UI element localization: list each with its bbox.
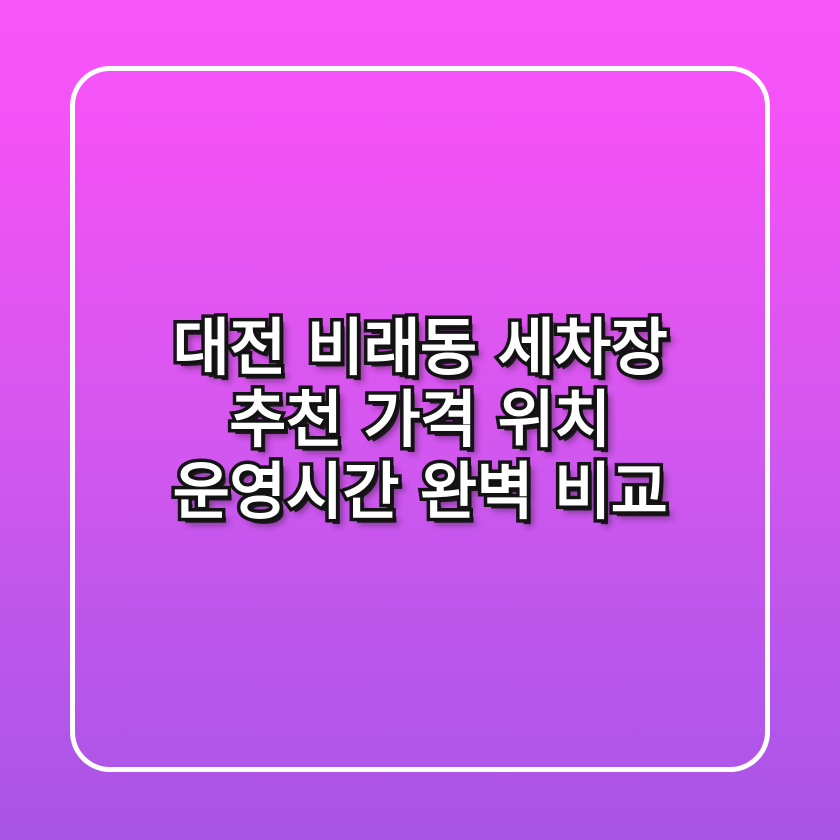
title-line-2: 추천 가격 위치: [92, 384, 748, 456]
thumbnail-canvas: 대전 비래동 세차장 추천 가격 위치 운영시간 완벽 비교: [0, 0, 840, 840]
title-line-3: 운영시간 완벽 비교: [92, 456, 748, 528]
title-line-1: 대전 비래동 세차장: [92, 312, 748, 384]
title-block: 대전 비래동 세차장 추천 가격 위치 운영시간 완벽 비교: [0, 0, 840, 840]
